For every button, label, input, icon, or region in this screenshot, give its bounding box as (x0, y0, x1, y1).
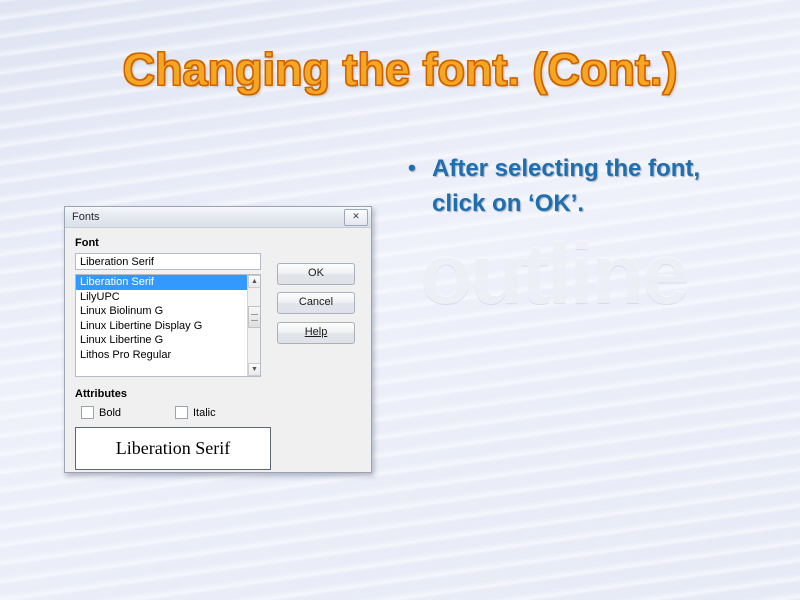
list-item[interactable]: Liberation Serif (76, 275, 260, 290)
checkbox-icon[interactable] (175, 406, 188, 419)
dialog-title: Fonts (72, 211, 344, 223)
page-title: Changing the font. (Cont.) (0, 44, 800, 96)
slide-canvas: outline Changing the font. (Cont.) • Aft… (0, 0, 800, 600)
list-item[interactable]: Lithos Pro Regular (76, 348, 260, 363)
italic-checkbox[interactable]: Italic (175, 406, 216, 419)
bullet-marker-icon: • (408, 152, 432, 184)
font-section-label: Font (75, 237, 99, 249)
list-item: • After selecting the font, click on ‘OK… (408, 152, 728, 222)
dialog-titlebar[interactable]: Fonts ✕ (65, 207, 371, 228)
bold-checkbox-label: Bold (99, 407, 121, 419)
font-name-input[interactable]: Liberation Serif (75, 253, 261, 270)
attributes-section-label: Attributes (75, 388, 127, 400)
fonts-dialog: Fonts ✕ Font Liberation Serif Liberation… (64, 206, 372, 473)
scroll-up-arrow-icon[interactable]: ▲ (248, 275, 261, 288)
cancel-button[interactable]: Cancel (277, 292, 355, 314)
background-watermark: outline (420, 225, 688, 324)
scrollbar-grip-icon (251, 314, 258, 321)
list-item[interactable]: Linux Libertine G (76, 333, 260, 348)
italic-checkbox-label: Italic (193, 407, 216, 419)
bullet-list: • After selecting the font, click on ‘OK… (408, 152, 728, 222)
close-icon[interactable]: ✕ (344, 209, 368, 226)
list-item[interactable]: Linux Libertine Display G (76, 319, 260, 334)
font-preview: Liberation Serif (75, 427, 271, 470)
list-item[interactable]: Linux Biolinum G (76, 304, 260, 319)
dialog-body: Font Liberation Serif Liberation Serif L… (65, 228, 371, 471)
checkbox-icon[interactable] (81, 406, 94, 419)
ok-button[interactable]: OK (277, 263, 355, 285)
help-button-label: Help (305, 326, 328, 338)
list-item[interactable]: LilyUPC (76, 290, 260, 305)
bullet-text: After selecting the font, click on ‘OK’. (432, 152, 728, 222)
font-list-scrollbar[interactable]: ▲ ▼ (247, 275, 260, 376)
bold-checkbox[interactable]: Bold (81, 406, 121, 419)
help-button[interactable]: Help (277, 322, 355, 344)
scroll-down-arrow-icon[interactable]: ▼ (248, 363, 261, 376)
scrollbar-thumb[interactable] (248, 306, 261, 328)
font-listbox[interactable]: Liberation Serif LilyUPC Linux Biolinum … (75, 274, 261, 377)
